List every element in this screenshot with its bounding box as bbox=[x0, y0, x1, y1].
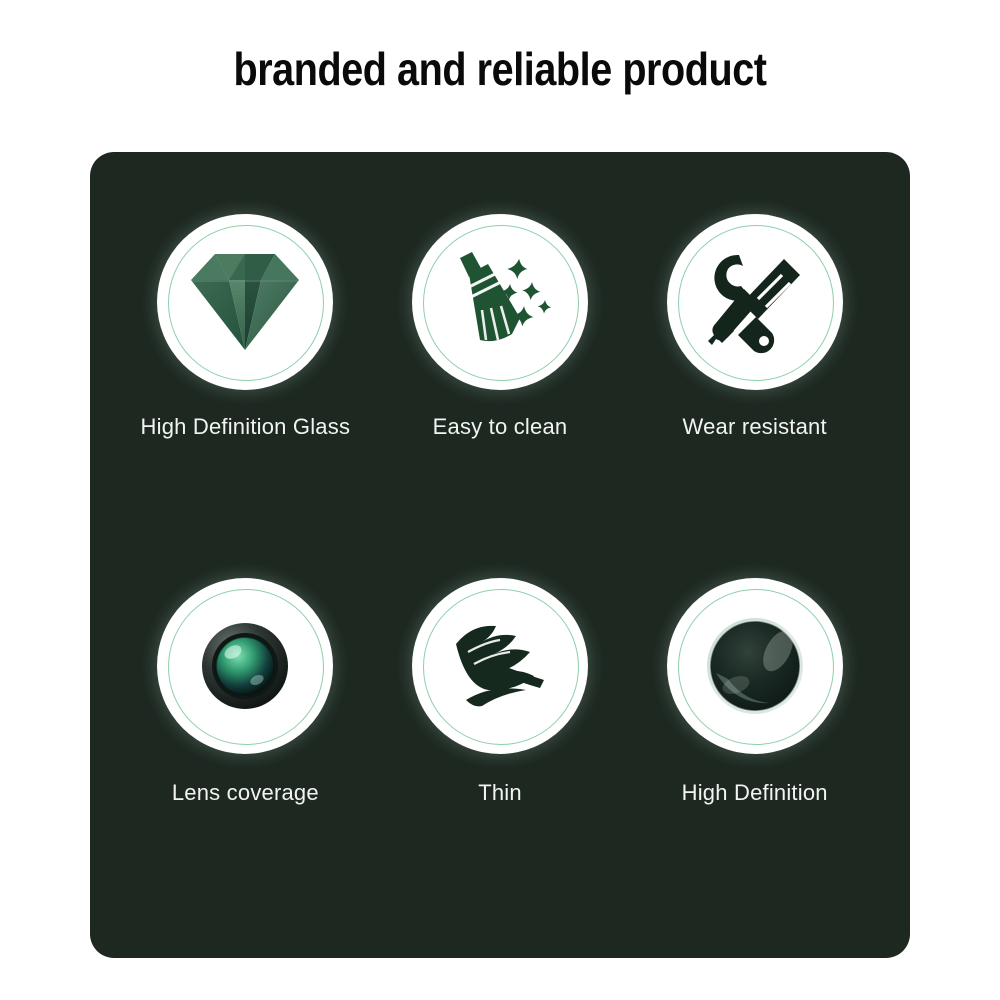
feature-icon-badge bbox=[667, 578, 843, 754]
glossy-orb-icon bbox=[706, 617, 804, 715]
page-title: branded and reliable product bbox=[70, 42, 930, 96]
features-panel: High Definition Glass bbox=[90, 152, 910, 958]
feature-icon-badge bbox=[667, 214, 843, 390]
diamond-icon bbox=[189, 250, 301, 354]
feature-item-high-definition[interactable]: High Definition bbox=[627, 560, 882, 906]
feature-item-lens-coverage[interactable]: Lens coverage bbox=[118, 560, 373, 906]
wrench-screwdriver-icon bbox=[700, 249, 810, 355]
feature-label: Lens coverage bbox=[172, 780, 319, 806]
camera-lens-icon bbox=[202, 623, 288, 709]
product-feature-infographic: branded and reliable product bbox=[0, 0, 1000, 1000]
feature-icon-badge bbox=[412, 578, 588, 754]
feature-icon-badge bbox=[412, 214, 588, 390]
feature-item-thin[interactable]: Thin bbox=[373, 560, 628, 906]
feature-item-high-definition-glass[interactable]: High Definition Glass bbox=[118, 214, 373, 560]
feature-label: High Definition bbox=[682, 780, 828, 806]
broom-sparkle-icon bbox=[442, 248, 558, 356]
features-grid: High Definition Glass bbox=[90, 152, 910, 958]
feature-label: High Definition Glass bbox=[141, 414, 351, 440]
feature-icon-badge bbox=[157, 214, 333, 390]
feature-item-wear-resistant[interactable]: Wear resistant bbox=[627, 214, 882, 560]
feature-item-easy-to-clean[interactable]: Easy to clean bbox=[373, 214, 628, 560]
feather-icon bbox=[448, 618, 552, 714]
feature-label: Easy to clean bbox=[433, 414, 568, 440]
feature-label: Thin bbox=[478, 780, 522, 806]
feature-icon-badge bbox=[157, 578, 333, 754]
feature-label: Wear resistant bbox=[683, 414, 827, 440]
